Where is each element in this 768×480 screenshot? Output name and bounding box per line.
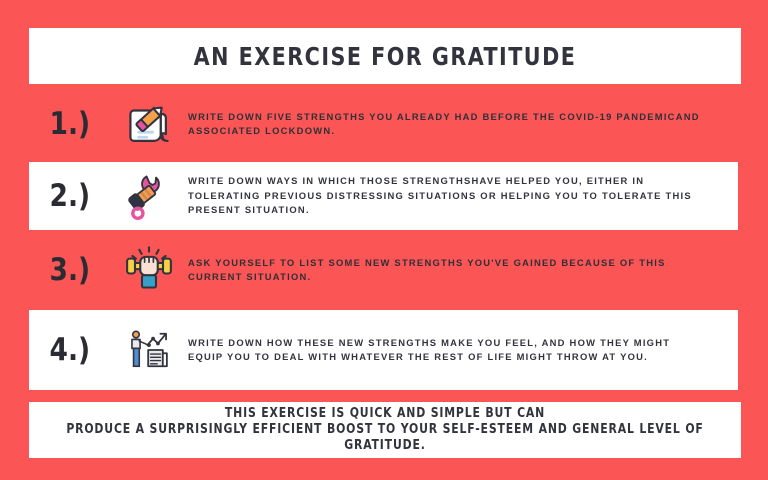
- step-number-1: 1.): [50, 106, 109, 142]
- page-title: AN EXERCISE FOR GRATITUDE: [57, 28, 712, 84]
- step-number-2: 2.): [50, 178, 109, 214]
- step-text-2: WRITE DOWN WAYS IN WHICH THOSE STRENGTHS…: [188, 174, 768, 218]
- growth-chart-person-icon: [110, 324, 188, 376]
- step-row-3: 3.): [0, 234, 768, 306]
- footer-line-3: GRATITUDE.: [344, 438, 425, 454]
- gratitude-exercise-poster: AN EXERCISE FOR GRATITUDE 1.) WRITE DOWN…: [0, 0, 768, 480]
- step-text-4: WRITE DOWN HOW THESE NEW STRENGTHS MAKE …: [188, 336, 768, 365]
- memo-pencil-icon: [110, 97, 188, 151]
- step-text-3: ASK YOURSELF TO LIST SOME NEW STRENGTHS …: [188, 256, 768, 285]
- footer-message: THIS EXERCISE IS QUICK AND SIMPLE BUT CA…: [54, 402, 716, 458]
- step-row-1: 1.) WRITE DOWN FIVE STRENGTHS YOU ALREAD…: [0, 88, 768, 160]
- step-row-4: 4.): [0, 310, 768, 390]
- flexing-fist-dumbbell-icon: [110, 242, 188, 298]
- hand-wrench-icon: [110, 169, 188, 223]
- footer-line-2: PRODUCE A SURPRISINGLY EFFICIENT BOOST T…: [66, 422, 703, 438]
- step-text-1: WRITE DOWN FIVE STRENGTHS YOU ALREADY HA…: [188, 110, 768, 139]
- step-number-3: 3.): [50, 252, 109, 288]
- footer-line-1: THIS EXERCISE IS QUICK AND SIMPLE BUT CA…: [225, 406, 545, 422]
- step-row-2: 2.) WRITE DOWN WAYS IN WHICH THOSE STREN…: [0, 162, 768, 230]
- step-number-4: 4.): [50, 332, 109, 368]
